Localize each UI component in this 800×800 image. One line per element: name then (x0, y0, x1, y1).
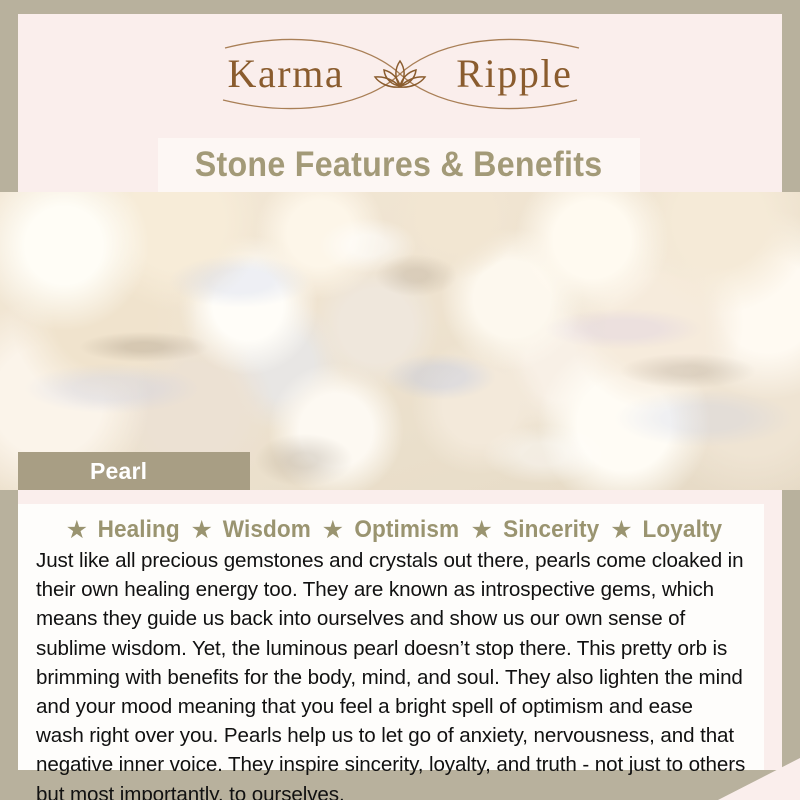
infographic-page: Karma Ripple Stone Features & Benefits P… (0, 0, 800, 800)
divider-strip (18, 490, 782, 504)
star-icon: ★ (610, 518, 632, 543)
benefit-item-healing: ★ Healing (58, 516, 183, 544)
brand-logo: Karma Ripple (0, 30, 800, 118)
benefit-item-wisdom: ★ Wisdom (182, 516, 313, 544)
stone-name-tag: Pearl (18, 452, 250, 490)
pearl-photo (0, 192, 800, 490)
page-title: Stone Features & Benefits (195, 145, 603, 185)
star-icon: ★ (471, 518, 493, 543)
benefit-label: Loyalty (642, 516, 722, 544)
stone-name-label: Pearl (90, 458, 147, 485)
benefits-row: ★ Healing ★ Wisdom ★ Optimism ★ Sincerit… (18, 504, 764, 544)
benefit-item-sincerity: ★ Sincerity (463, 516, 603, 544)
brand-name-first: Karma (227, 54, 344, 94)
pearl-photo-shadow (0, 192, 800, 490)
benefit-label: Optimism (354, 516, 459, 544)
star-icon: ★ (66, 518, 88, 543)
benefit-label: Sincerity (503, 516, 599, 544)
star-icon: ★ (322, 518, 344, 543)
lotus-icon (372, 54, 428, 94)
brand-name-second: Ripple (456, 54, 572, 94)
benefit-item-loyalty: ★ Loyalty (602, 516, 724, 544)
benefit-item-optimism: ★ Optimism (314, 516, 463, 544)
star-icon: ★ (190, 518, 212, 543)
stone-description: Just like all precious gemstones and cry… (36, 546, 746, 800)
title-banner: Stone Features & Benefits (158, 138, 640, 192)
frame-top-border (0, 0, 800, 14)
benefit-label: Wisdom (223, 516, 311, 544)
content-panel: ★ Healing ★ Wisdom ★ Optimism ★ Sincerit… (18, 504, 764, 770)
benefit-label: Healing (98, 516, 180, 544)
